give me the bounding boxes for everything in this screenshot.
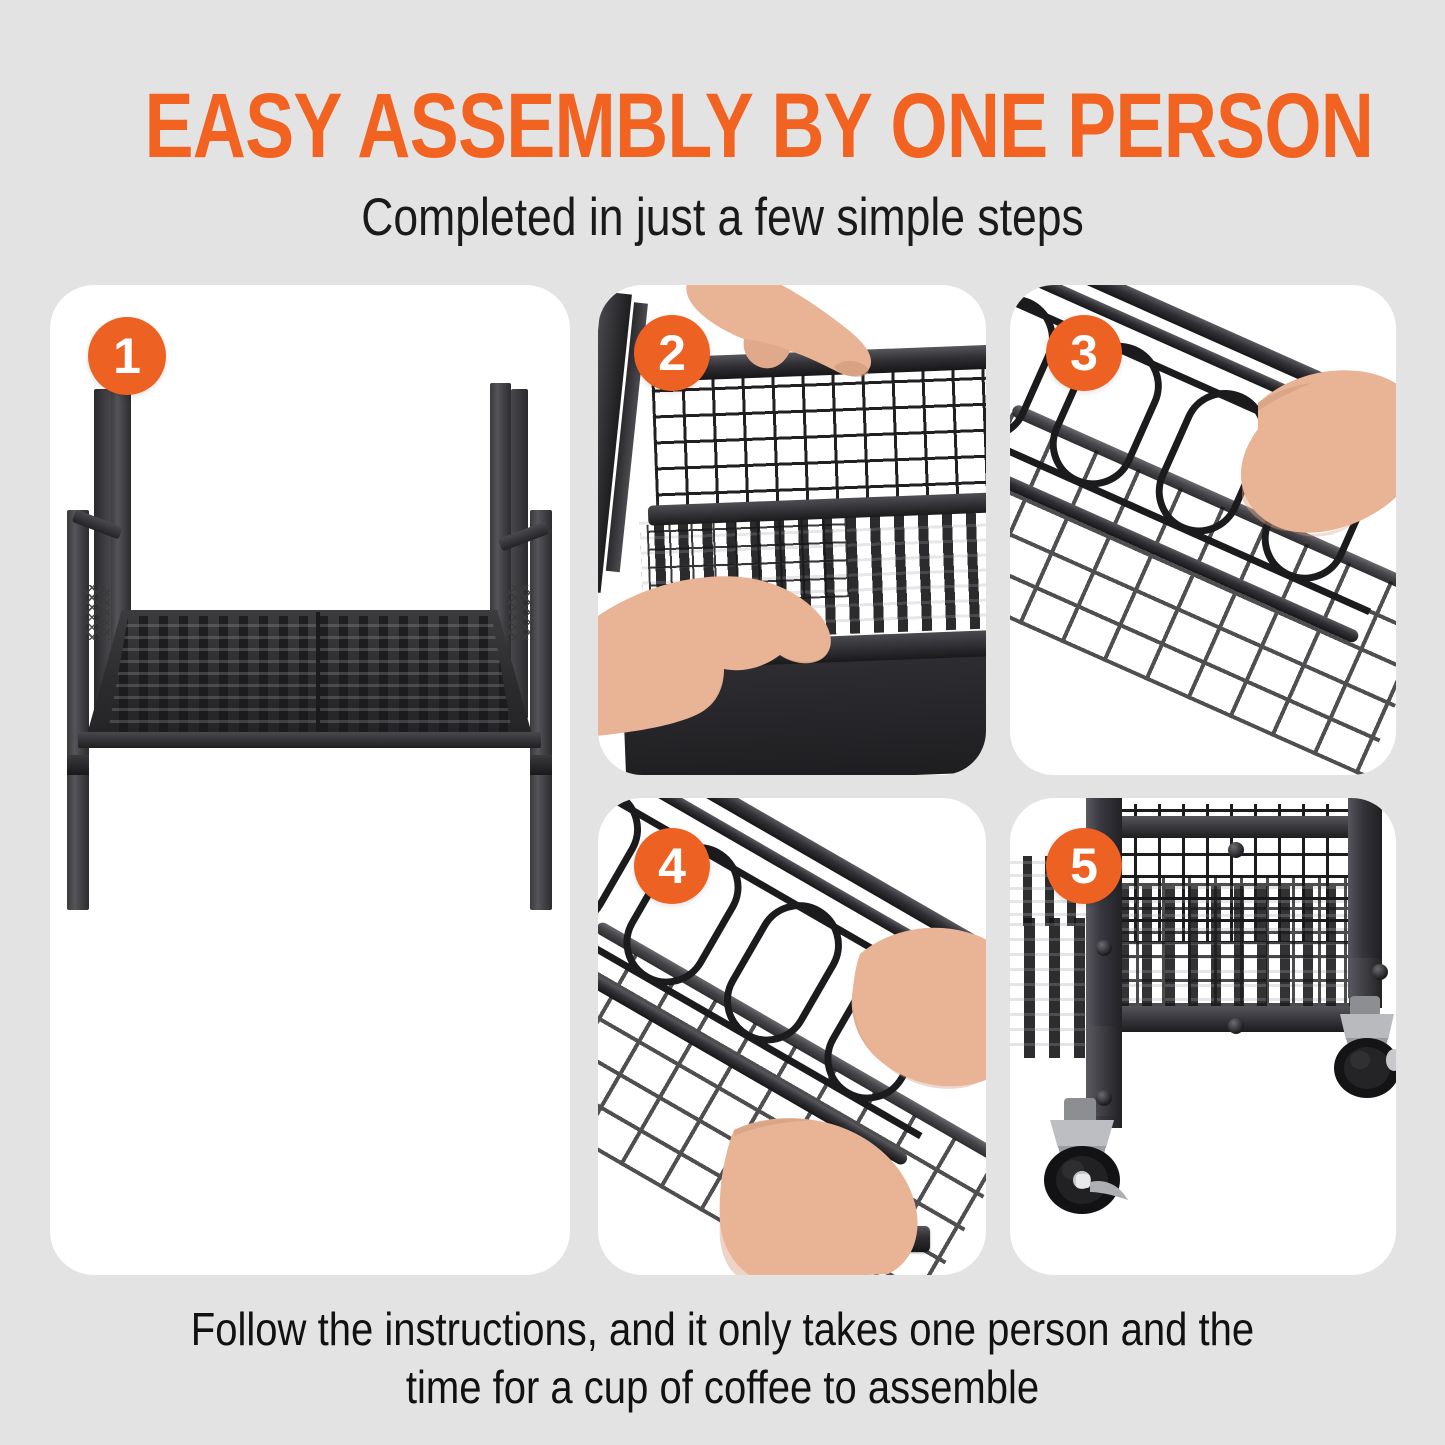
frame-foot-right bbox=[530, 755, 552, 775]
step-badge-5: 5 bbox=[1046, 828, 1122, 904]
hand-upper-right-4 bbox=[830, 918, 986, 1108]
lower-shelf-side bbox=[1010, 918, 1098, 1058]
hand-lower-left-4 bbox=[698, 1114, 948, 1275]
shelf-perforations bbox=[108, 616, 512, 732]
shelf-front-lip bbox=[78, 732, 541, 748]
footer-caption: Follow the instructions, and it only tak… bbox=[0, 1300, 1445, 1416]
step-panel-3[interactable]: 3 bbox=[1010, 285, 1396, 775]
step-panel-5[interactable]: 5 bbox=[1010, 798, 1396, 1275]
step-badge-4: 4 bbox=[634, 828, 710, 904]
step-badge-2: 2 bbox=[634, 315, 710, 391]
step-badge-1: 1 bbox=[88, 317, 166, 395]
shelf-center-seam bbox=[316, 612, 320, 736]
page-subtitle: Completed in just a few simple steps bbox=[116, 188, 1330, 248]
caster-wheel-front-with-brake bbox=[1018, 1098, 1148, 1228]
frame-foot-left bbox=[67, 755, 89, 775]
hand-right-3 bbox=[1198, 351, 1396, 591]
page-title: EASY ASSEMBLY BY ONE PERSON bbox=[145, 78, 1301, 174]
caption-line-1: Follow the instructions, and it only tak… bbox=[94, 1300, 1351, 1358]
bottom-shelf bbox=[66, 610, 553, 760]
step-badge-3: 3 bbox=[1046, 315, 1122, 391]
step-panel-2[interactable]: 2 bbox=[598, 285, 986, 775]
caster-wheel-rear bbox=[1312, 994, 1396, 1104]
caption-line-2: time for a cup of coffee to assemble bbox=[94, 1358, 1351, 1416]
cart-bolt-4 bbox=[1228, 1018, 1244, 1034]
step-1-photo bbox=[50, 285, 570, 1275]
hand-lower bbox=[598, 485, 904, 775]
cart-basket-mesh-front bbox=[1110, 876, 1360, 1006]
header: EASY ASSEMBLY BY ONE PERSON Completed in… bbox=[0, 0, 1445, 270]
cart-bolt-5 bbox=[1372, 964, 1388, 980]
cart-basket-top-rail bbox=[1106, 816, 1368, 838]
cart-bolt-1 bbox=[1096, 940, 1112, 956]
step-panel-1[interactable]: 1 bbox=[50, 285, 570, 1275]
cart-bolt-3 bbox=[1228, 842, 1244, 858]
step-panel-4[interactable]: 4 bbox=[598, 798, 986, 1275]
